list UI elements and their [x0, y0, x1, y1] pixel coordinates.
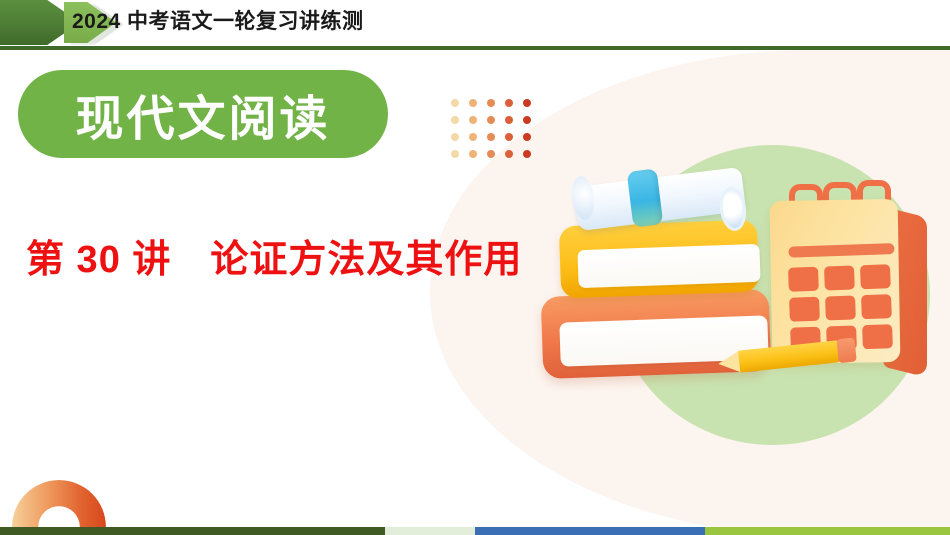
dot-3-1: [469, 150, 477, 158]
dot-0-0: [451, 99, 459, 107]
calendar-cell-0: [788, 267, 819, 292]
calendar-cell-5: [861, 294, 892, 319]
header-title: 2024 中考语文一轮复习讲练测: [72, 6, 364, 38]
pencil-body: [738, 340, 840, 372]
calendar-header-bar: [788, 243, 894, 258]
calendar-cell-1: [824, 265, 855, 290]
pencil-ferrule: [836, 337, 856, 363]
dot-1-3: [505, 116, 513, 124]
bar-light-green: [385, 527, 475, 535]
dot-0-4: [523, 99, 531, 107]
dot-1-2: [487, 116, 495, 124]
bar-yellow-green: [705, 527, 950, 535]
bottom-color-bars: [0, 527, 950, 535]
dot-grid-decoration: [451, 99, 541, 167]
dot-2-2: [487, 133, 495, 141]
dot-0-2: [487, 99, 495, 107]
book-yellow-pages: [577, 244, 760, 288]
dot-3-2: [487, 150, 495, 158]
dot-3-0: [451, 150, 459, 158]
dot-1-0: [451, 116, 459, 124]
calendar-cell-2: [860, 264, 891, 289]
bar-blue: [475, 527, 705, 535]
dot-2-0: [451, 133, 459, 141]
section-title-text: 现代文阅读: [75, 79, 330, 149]
calendar-cell-3: [789, 297, 820, 322]
dot-1-4: [523, 116, 531, 124]
dot-1-1: [469, 116, 477, 124]
bar-dark-green: [0, 527, 385, 535]
dot-3-3: [505, 150, 513, 158]
dot-2-4: [523, 133, 531, 141]
calendar-cell-4: [825, 295, 856, 320]
dot-3-4: [523, 150, 531, 158]
lecture-subtitle: 第 30 讲 论证方法及其作用: [26, 228, 522, 283]
diploma-scroll-icon: [572, 163, 747, 235]
header-divider: [0, 46, 950, 50]
section-title-badge: 现代文阅读: [18, 70, 388, 158]
slide-root: 2024 中考语文一轮复习讲练测 现代文阅读 第 30 讲 论证方法及其作用: [0, 0, 950, 535]
dot-2-1: [469, 133, 477, 141]
slide-header: 2024 中考语文一轮复习讲练测: [0, 0, 950, 50]
dot-0-3: [505, 99, 513, 107]
illustration-books-calendar: [560, 135, 950, 450]
dot-2-3: [505, 133, 513, 141]
dot-0-1: [469, 99, 477, 107]
